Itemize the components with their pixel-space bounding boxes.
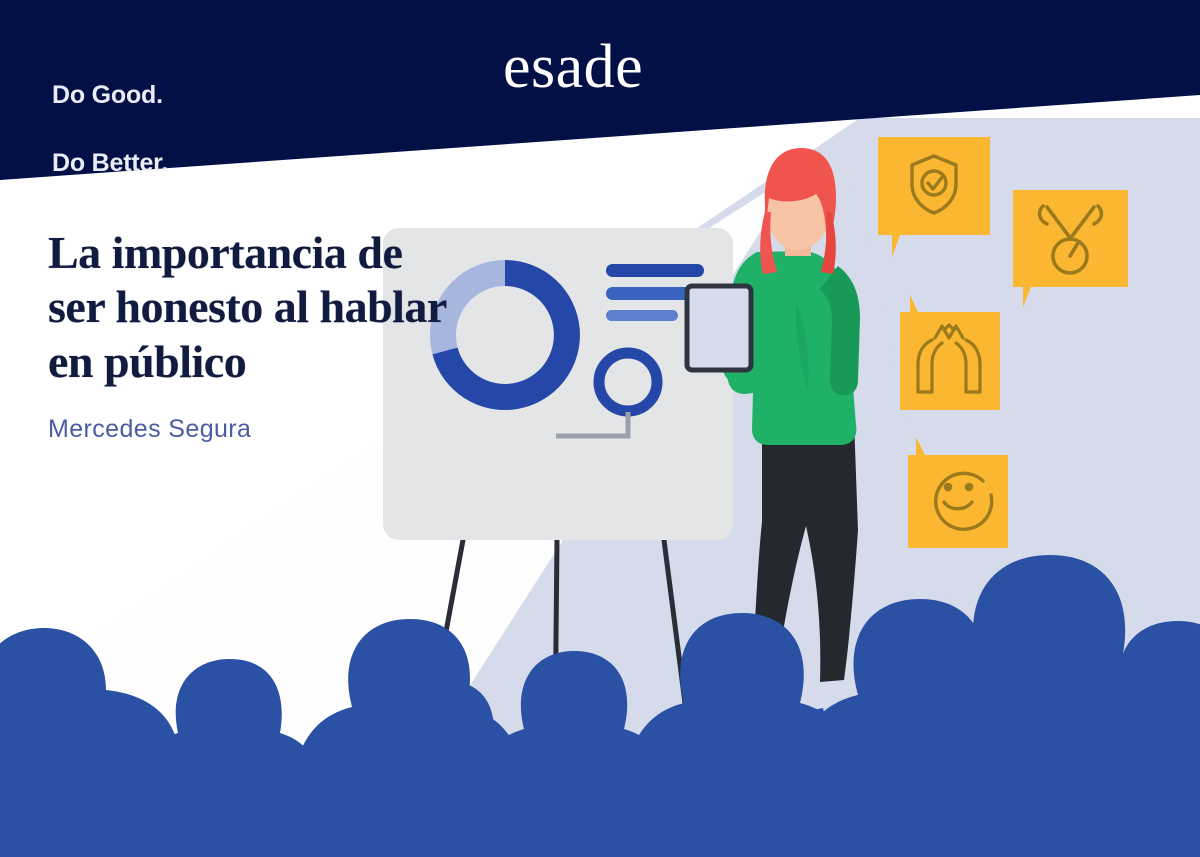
tablet <box>687 286 751 370</box>
tagline-line-1: Do Good. <box>52 78 168 112</box>
tagline: Do Good. Do Better. <box>52 44 168 214</box>
title-block: La importancia de ser honesto al hablar … <box>48 226 448 444</box>
article-cover: Do Good. Do Better. esade La importancia… <box>0 0 1200 857</box>
sticky-note-3 <box>900 295 1000 410</box>
audience-front-row <box>0 790 1200 857</box>
tagline-line-2: Do Better. <box>52 146 168 180</box>
page-title: La importancia de ser honesto al hablar … <box>48 226 448 389</box>
author-byline: Mercedes Segura <box>48 415 448 444</box>
esade-logo: esade <box>503 36 643 98</box>
